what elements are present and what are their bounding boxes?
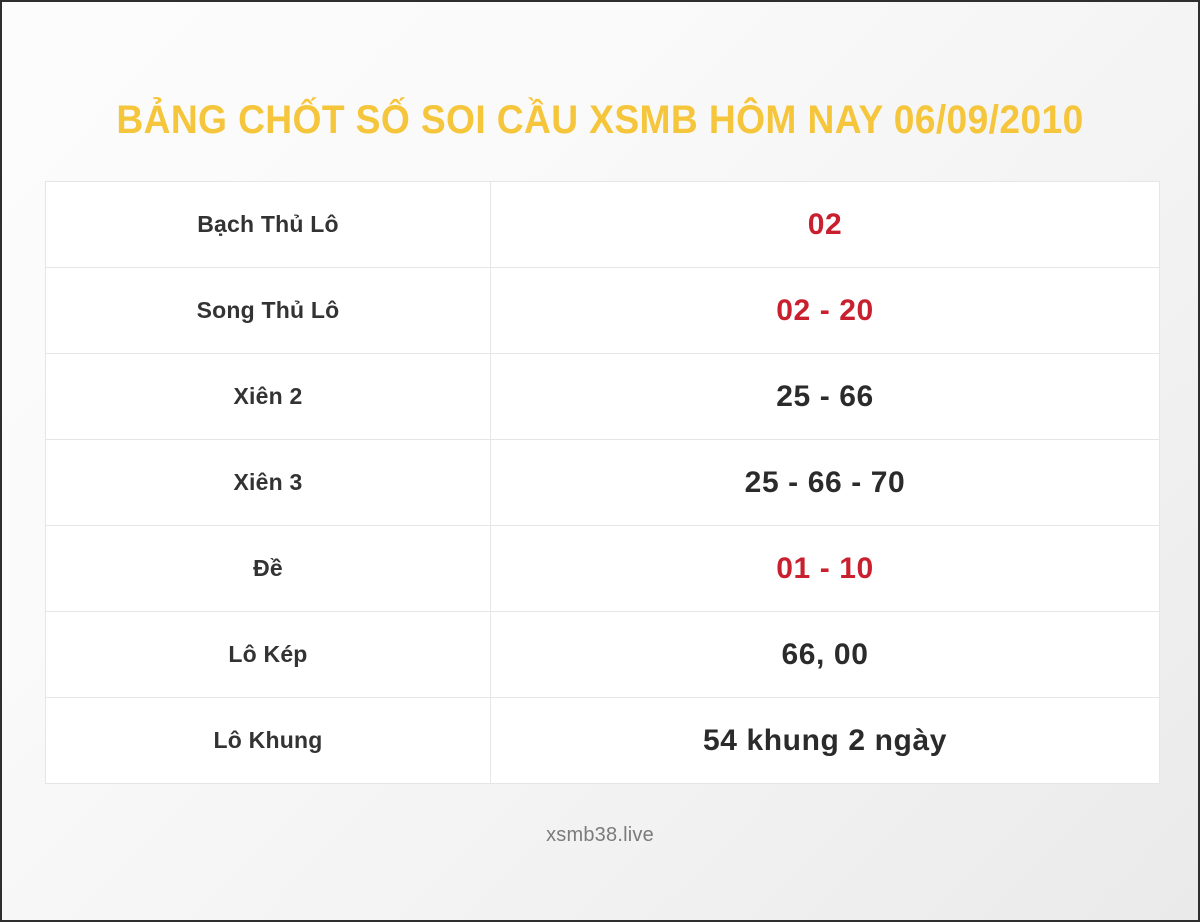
row-value: 54 khung 2 ngày	[491, 698, 1160, 784]
row-value: 25 - 66 - 70	[491, 440, 1160, 526]
prediction-board: BẢNG CHỐT SỐ SOI CẦU XSMB HÔM NAY 06/09/…	[0, 0, 1200, 922]
table-row: Lô Kép66, 00	[46, 612, 1160, 698]
table-row: Đề01 - 10	[46, 526, 1160, 612]
table-row: Bạch Thủ Lô02	[46, 182, 1160, 268]
table-row: Xiên 225 - 66	[46, 354, 1160, 440]
row-label: Xiên 3	[46, 440, 491, 526]
row-label: Xiên 2	[46, 354, 491, 440]
footer-site-name: xsmb38.live	[2, 824, 1198, 847]
results-table: Bạch Thủ Lô02Song Thủ Lô02 - 20Xiên 225 …	[45, 181, 1160, 784]
row-value: 02 - 20	[491, 268, 1160, 354]
row-label: Lô Khung	[46, 698, 491, 784]
row-label: Song Thủ Lô	[46, 268, 491, 354]
page-title: BẢNG CHỐT SỐ SOI CẦU XSMB HÔM NAY 06/09/…	[44, 2, 1156, 140]
row-value: 25 - 66	[491, 354, 1160, 440]
row-label: Bạch Thủ Lô	[46, 182, 491, 268]
table-row: Xiên 325 - 66 - 70	[46, 440, 1160, 526]
table-row: Song Thủ Lô02 - 20	[46, 268, 1160, 354]
row-value: 02	[491, 182, 1160, 268]
row-value: 66, 00	[491, 612, 1160, 698]
row-label: Đề	[46, 526, 491, 612]
table-row: Lô Khung54 khung 2 ngày	[46, 698, 1160, 784]
results-table-body: Bạch Thủ Lô02Song Thủ Lô02 - 20Xiên 225 …	[46, 182, 1160, 784]
row-value: 01 - 10	[491, 526, 1160, 612]
results-table-container: Bạch Thủ Lô02Song Thủ Lô02 - 20Xiên 225 …	[45, 181, 1159, 784]
row-label: Lô Kép	[46, 612, 491, 698]
